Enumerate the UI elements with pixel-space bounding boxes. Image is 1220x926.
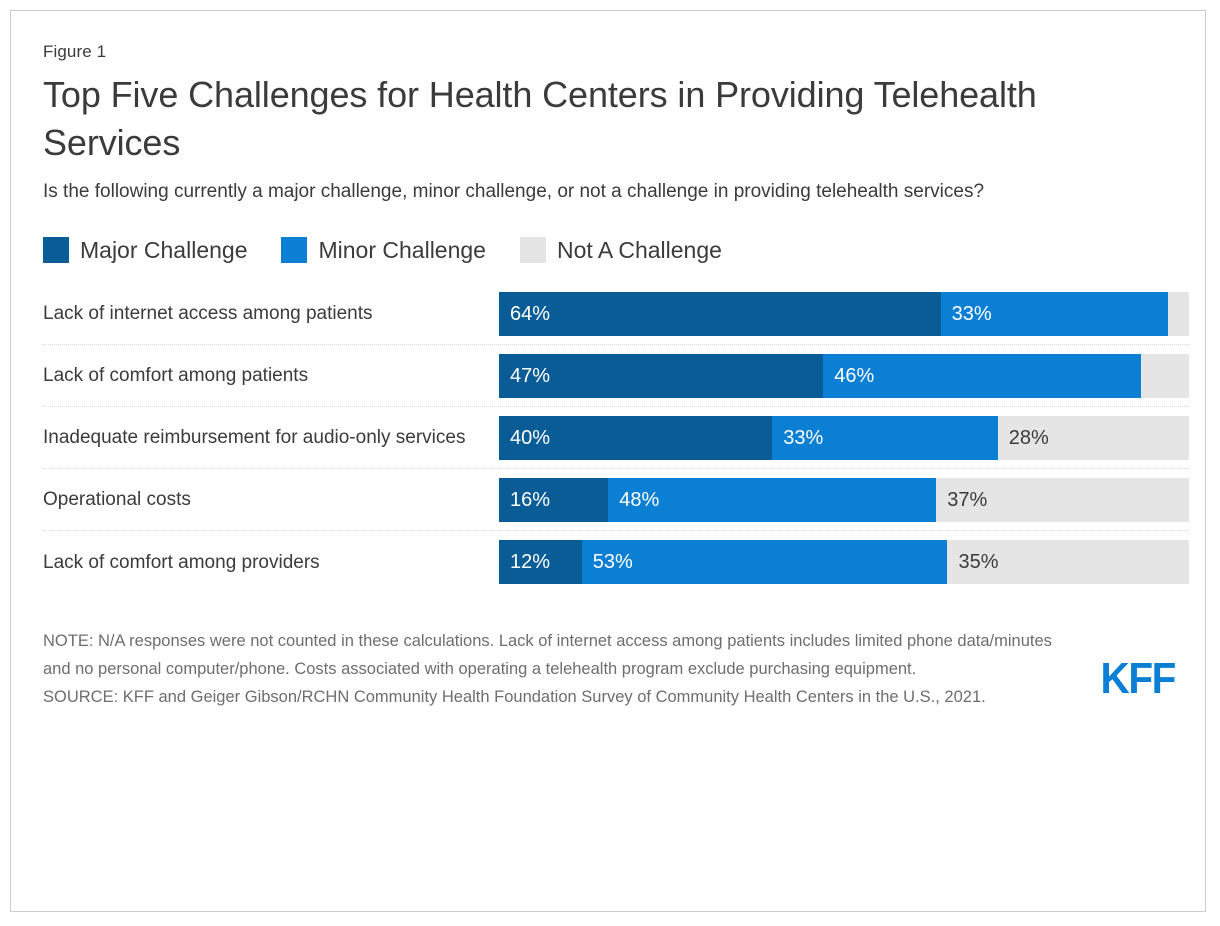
- stacked-bar: 47%46%7%: [499, 354, 1189, 398]
- figure-card: Figure 1 Top Five Challenges for Health …: [10, 10, 1206, 912]
- bar-segment-minor[interactable]: 46%: [823, 354, 1140, 398]
- bar-segment-major[interactable]: 16%: [499, 478, 608, 522]
- bar-segment-value: 12%: [499, 552, 550, 572]
- figure-subtitle: Is the following currently a major chall…: [43, 177, 1183, 207]
- stacked-bar: 16%48%37%: [499, 478, 1189, 522]
- legend-swatch-none: [520, 237, 546, 263]
- bar-segment-none[interactable]: 37%: [936, 478, 1189, 522]
- bar-segment-value: 64%: [499, 304, 550, 324]
- footer-note: NOTE: N/A responses were not counted in …: [43, 627, 1063, 683]
- footer-text-block: NOTE: N/A responses were not counted in …: [43, 627, 1063, 711]
- chart-row: Lack of comfort among providers12%53%35%: [43, 531, 1189, 593]
- stacked-bar: 12%53%35%: [499, 540, 1189, 584]
- stacked-bar: 40%33%28%: [499, 416, 1189, 460]
- bar-segment-value: 47%: [499, 366, 550, 386]
- figure-number: Figure 1: [43, 41, 1187, 63]
- bar-segment-major[interactable]: 40%: [499, 416, 772, 460]
- bar-segment-value: 53%: [582, 552, 633, 572]
- stacked-bar-chart: Lack of internet access among patients64…: [43, 283, 1189, 593]
- bar-segment-none[interactable]: 3%: [1168, 292, 1189, 336]
- bar-segment-major[interactable]: 12%: [499, 540, 582, 584]
- chart-row: Inadequate reimbursement for audio-only …: [43, 407, 1189, 469]
- chart-row: Lack of internet access among patients64…: [43, 283, 1189, 345]
- legend-swatch-minor: [281, 237, 307, 263]
- stacked-bar: 64%33%3%: [499, 292, 1189, 336]
- legend-item-label: Not A Challenge: [557, 237, 722, 263]
- bar-segment-minor[interactable]: 33%: [941, 292, 1169, 336]
- bar-segment-minor[interactable]: 53%: [582, 540, 948, 584]
- bar-segment-value: 35%: [947, 552, 998, 572]
- legend-swatch-major: [43, 237, 69, 263]
- bar-segment-none[interactable]: 28%: [998, 416, 1189, 460]
- bar-segment-value: 33%: [941, 304, 992, 324]
- bar-segment-value: 48%: [608, 490, 659, 510]
- chart-row: Operational costs16%48%37%: [43, 469, 1189, 531]
- chart-row-label: Lack of comfort among providers: [43, 548, 499, 577]
- figure-footer: NOTE: N/A responses were not counted in …: [43, 627, 1187, 711]
- legend-item[interactable]: Not A Challenge: [520, 237, 722, 263]
- bar-segment-value: 40%: [499, 428, 550, 448]
- legend-item[interactable]: Major Challenge: [43, 237, 247, 263]
- legend-item-label: Minor Challenge: [318, 237, 485, 263]
- footer-source: SOURCE: KFF and Geiger Gibson/RCHN Commu…: [43, 683, 1063, 711]
- bar-segment-value: 16%: [499, 490, 550, 510]
- bar-segment-minor[interactable]: 48%: [608, 478, 936, 522]
- bar-segment-none[interactable]: 35%: [947, 540, 1189, 584]
- kff-logo: KFF: [1100, 657, 1175, 701]
- bar-segment-value: 33%: [772, 428, 823, 448]
- bar-segment-major[interactable]: 64%: [499, 292, 941, 336]
- figure-inner: Figure 1 Top Five Challenges for Health …: [43, 41, 1187, 901]
- legend-item[interactable]: Minor Challenge: [281, 237, 485, 263]
- bar-segment-value: 37%: [936, 490, 987, 510]
- bar-segment-major[interactable]: 47%: [499, 354, 823, 398]
- bar-segment-value: 28%: [998, 428, 1049, 448]
- bar-segment-none[interactable]: 7%: [1141, 354, 1189, 398]
- chart-legend: Major ChallengeMinor ChallengeNot A Chal…: [43, 237, 1187, 263]
- legend-item-label: Major Challenge: [80, 237, 247, 263]
- chart-row-label: Lack of internet access among patients: [43, 299, 499, 328]
- chart-row-label: Lack of comfort among patients: [43, 361, 499, 390]
- page-title: Top Five Challenges for Health Centers i…: [43, 71, 1163, 167]
- chart-row: Lack of comfort among patients47%46%7%: [43, 345, 1189, 407]
- bar-segment-minor[interactable]: 33%: [772, 416, 997, 460]
- chart-row-label: Inadequate reimbursement for audio-only …: [43, 423, 499, 452]
- chart-row-label: Operational costs: [43, 485, 499, 514]
- bar-segment-value: 46%: [823, 366, 874, 386]
